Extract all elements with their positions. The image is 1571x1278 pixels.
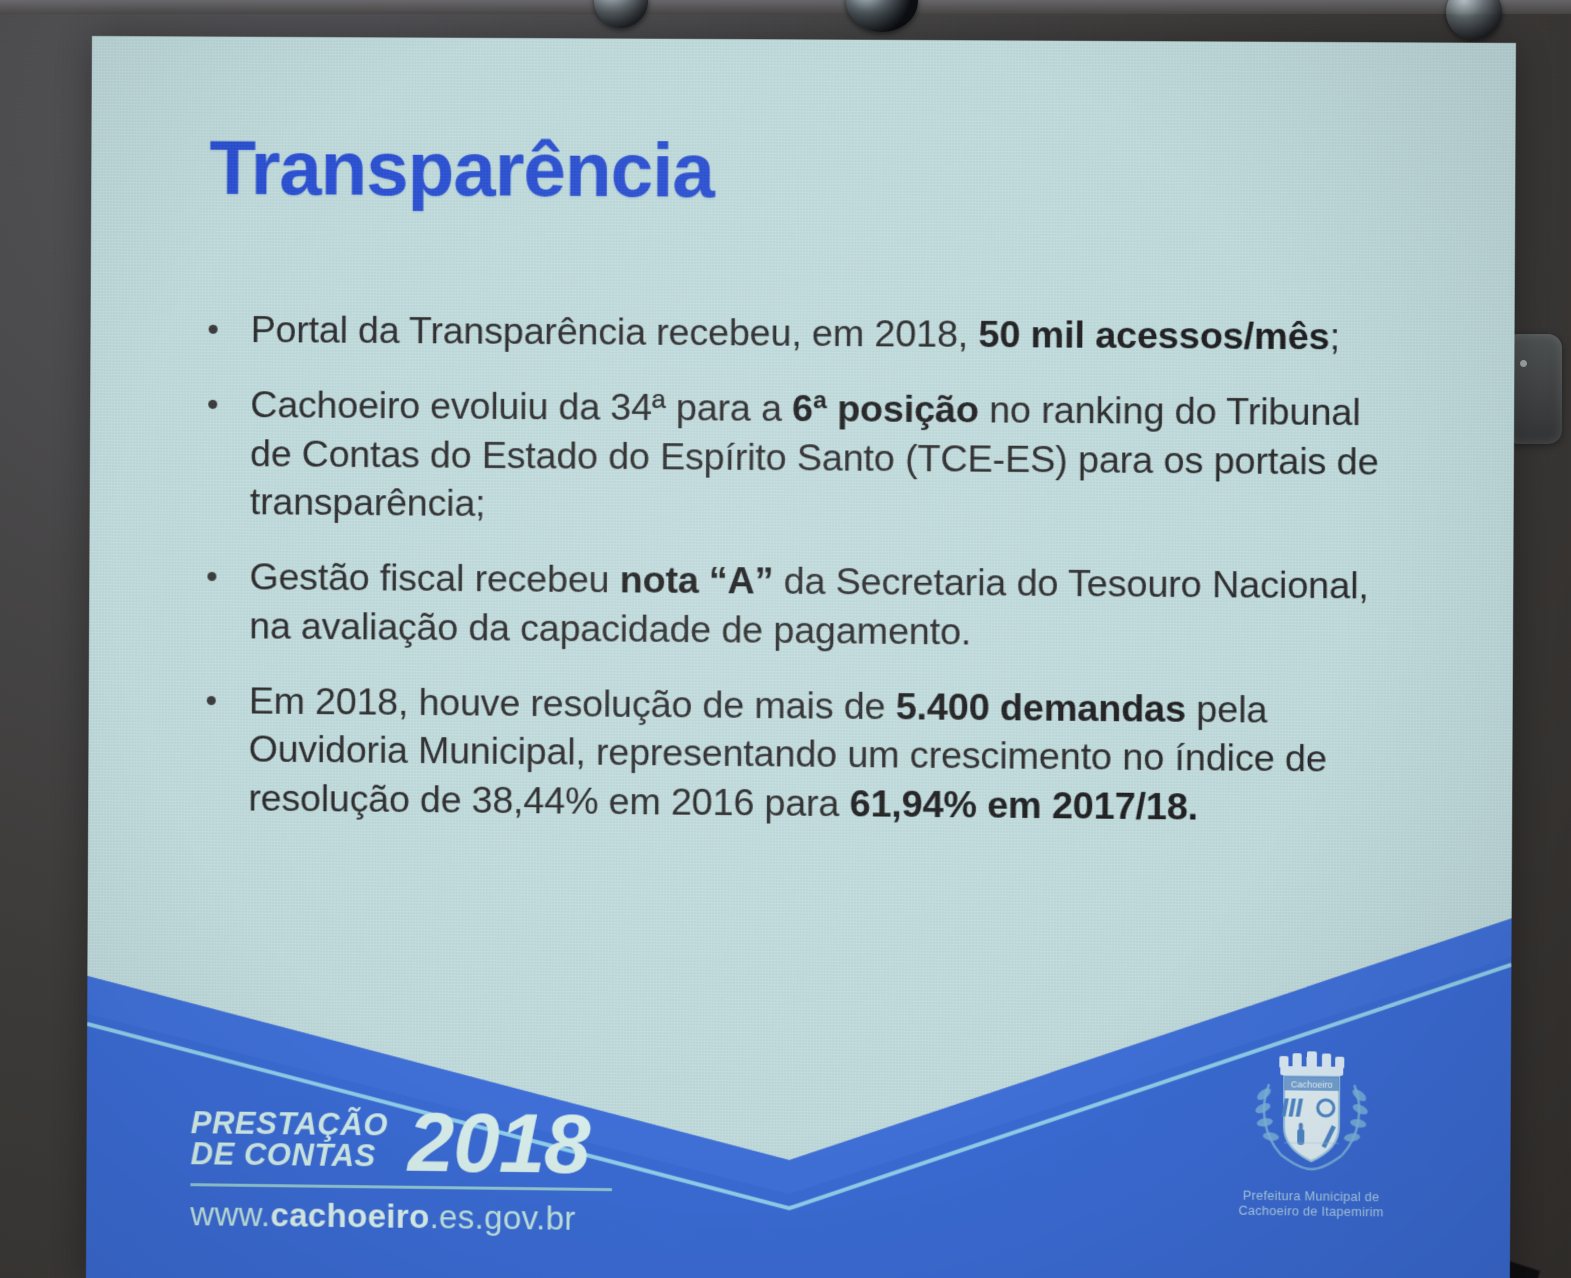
ceiling-edge bbox=[0, 0, 1571, 14]
footer-brand-lockup: PRESTAÇÃO DE CONTAS 2018 www.cachoeiro.e… bbox=[190, 1106, 612, 1238]
list-item-text: Cachoeiro evoluiu da 34ª para a 6ª posiç… bbox=[250, 383, 1379, 524]
footer-website-url[interactable]: www.cachoeiro.es.gov.br bbox=[190, 1195, 612, 1238]
coat-of-arms-icon: Cachoeiro bbox=[1235, 1049, 1388, 1184]
slide-bullet-list: Portal da Transparência recebeu, em 2018… bbox=[196, 305, 1409, 860]
brand-line-2: DE CONTAS bbox=[191, 1139, 388, 1173]
bullet-dot-icon bbox=[207, 572, 216, 581]
list-item: Gestão fiscal recebeu nota “A” da Secret… bbox=[197, 552, 1408, 660]
slide-title: Transparência bbox=[209, 125, 714, 215]
list-item-text: Gestão fiscal recebeu nota “A” da Secret… bbox=[249, 555, 1369, 652]
list-item-text: Em 2018, houve resolução de mais de 5.40… bbox=[248, 679, 1327, 828]
bullet-dot-icon bbox=[209, 325, 218, 334]
projected-slide: Transparência Portal da Transparência re… bbox=[86, 36, 1516, 1278]
brand-year: 2018 bbox=[408, 1109, 590, 1179]
crest-caption: Prefeitura Municipal de Cachoeiro de Ita… bbox=[1210, 1188, 1413, 1222]
url-suffix: .es.gov.br bbox=[429, 1198, 575, 1237]
list-item: Portal da Transparência recebeu, em 2018… bbox=[199, 305, 1409, 362]
city-coat-of-arms: Cachoeiro Prefeitura Municipal de bbox=[1210, 1049, 1414, 1222]
list-item: Cachoeiro evoluiu da 34ª para a 6ª posiç… bbox=[198, 379, 1409, 535]
crest-caption-line-2: Cachoeiro de Itapemirim bbox=[1210, 1204, 1413, 1222]
bullet-dot-icon bbox=[208, 400, 217, 409]
brand-line-1: PRESTAÇÃO bbox=[191, 1107, 388, 1141]
bullet-dot-icon bbox=[207, 696, 216, 705]
screenshot-stage: Transparência Portal da Transparência re… bbox=[0, 0, 1571, 1278]
crest-motto: Cachoeiro bbox=[1291, 1079, 1333, 1090]
list-item: Em 2018, houve resolução de mais de 5.40… bbox=[196, 675, 1407, 833]
list-item-text: Portal da Transparência recebeu, em 2018… bbox=[251, 308, 1340, 357]
url-main: cachoeiro bbox=[270, 1196, 429, 1235]
url-prefix: www. bbox=[190, 1195, 270, 1233]
slide-canvas: Transparência Portal da Transparência re… bbox=[86, 36, 1516, 1278]
